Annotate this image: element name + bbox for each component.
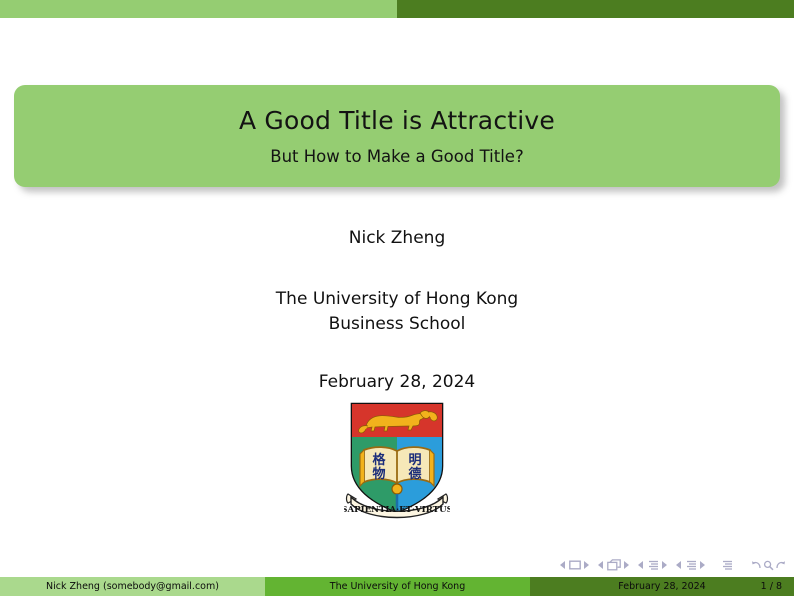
title-page-details: Nick Zheng The University of Hong Kong B…: [0, 215, 794, 392]
document-icon[interactable]: [721, 560, 733, 571]
presentation-date: February 28, 2024: [0, 336, 794, 392]
subsection-navigation-group[interactable]: [638, 560, 667, 571]
subsection-icon[interactable]: [647, 560, 659, 571]
hku-crest-icon: 格 物 明 德 SAPIENTIA·ET·VIRTUS: [344, 398, 450, 520]
crest-char-wu: 物: [372, 466, 385, 482]
page-title: A Good Title is Attractive: [239, 106, 555, 135]
frame-icon[interactable]: [607, 559, 621, 571]
document-nav-item[interactable]: [721, 560, 733, 571]
footer-page-number: 1 / 8: [761, 577, 782, 596]
header-bar-left-segment: [0, 0, 397, 18]
crest-motto-text: SAPIENTIA·ET·VIRTUS: [344, 505, 450, 515]
header-bar-right-segment: [397, 0, 794, 18]
forward-icon[interactable]: [775, 560, 786, 571]
prev-section-icon[interactable]: [676, 561, 682, 569]
institute-line-1: The University of Hong Kong: [276, 289, 518, 309]
footer-institute-text: The University of Hong Kong: [330, 581, 465, 592]
page-subtitle: But How to Make a Good Title?: [270, 147, 523, 166]
title-block: A Good Title is Attractive But How to Ma…: [14, 85, 780, 187]
footer-date-section: February 28, 2024 1 / 8: [530, 577, 794, 596]
slide-navigation-group[interactable]: [560, 560, 589, 570]
hku-crest-logo: 格 物 明 德 SAPIENTIA·ET·VIRTUS: [344, 398, 450, 520]
header-decoration-bar: [0, 0, 794, 18]
section-navigation-group[interactable]: [676, 560, 705, 571]
next-subsection-icon[interactable]: [661, 561, 667, 569]
prev-frame-icon[interactable]: [598, 561, 604, 569]
prev-subsection-icon[interactable]: [638, 561, 644, 569]
history-navigation-group[interactable]: [751, 560, 786, 571]
crest-char-ming: 明: [408, 453, 421, 468]
author-name: Nick Zheng: [0, 215, 794, 248]
crest-char-de: 德: [408, 466, 421, 482]
next-section-icon[interactable]: [699, 561, 705, 569]
prev-slide-icon[interactable]: [560, 561, 566, 569]
footer-author-text: Nick Zheng (somebody@gmail.com): [46, 581, 219, 592]
footer-date-text: February 28, 2024: [618, 581, 705, 592]
footer-bar: Nick Zheng (somebody@gmail.com) The Univ…: [0, 577, 794, 596]
section-icon[interactable]: [685, 560, 697, 571]
back-icon[interactable]: [751, 560, 762, 571]
institute-block: The University of Hong Kong Business Sch…: [0, 248, 794, 336]
slide-icon[interactable]: [569, 560, 581, 570]
frame-navigation-group[interactable]: [598, 559, 629, 571]
next-slide-icon[interactable]: [583, 561, 589, 569]
search-icon[interactable]: [763, 560, 774, 571]
institute-line-2: Business School: [329, 314, 466, 334]
beamer-navigation-symbols[interactable]: [560, 557, 786, 573]
footer-author-section: Nick Zheng (somebody@gmail.com): [0, 577, 265, 596]
next-frame-icon[interactable]: [623, 561, 629, 569]
crest-char-ge: 格: [372, 452, 386, 468]
footer-institute-section: The University of Hong Kong: [265, 577, 530, 596]
